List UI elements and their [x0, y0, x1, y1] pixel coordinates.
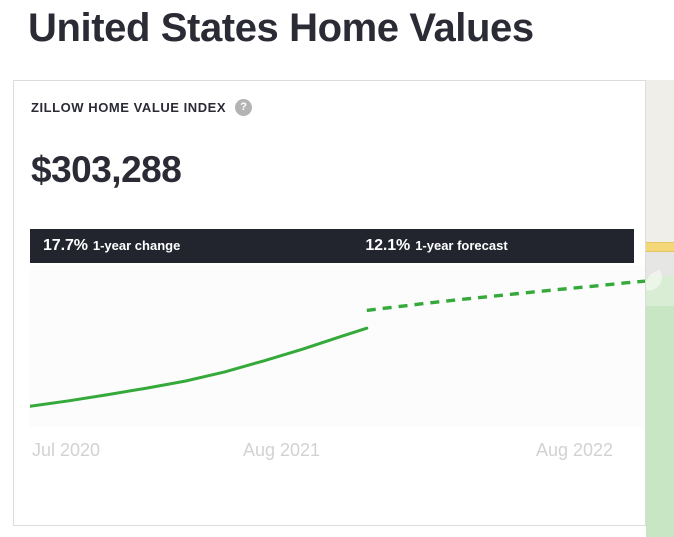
- map-leaf-icon: [646, 266, 668, 300]
- map-backdrop[interactable]: [646, 80, 674, 537]
- stats-bar: 17.7% 1-year change 12.1% 1-year forecas…: [30, 229, 634, 263]
- zhvi-trend-chart[interactable]: [30, 265, 646, 427]
- chart-svg: [30, 265, 646, 427]
- series-forecast-line: [367, 281, 646, 311]
- map-park-area: [646, 276, 674, 537]
- chart-x-axis: Jul 2020 Aug 2021 Aug 2022: [30, 437, 634, 463]
- card-header: ZILLOW HOME VALUE INDEX ?: [31, 99, 252, 116]
- one-year-forecast-label: 1-year forecast: [415, 238, 508, 253]
- zhvi-value: $303,288: [31, 149, 181, 191]
- x-axis-tick-jul-2020: Jul 2020: [32, 437, 100, 463]
- series-historical-line: [30, 328, 367, 406]
- zillow-home-value-index-card: ZILLOW HOME VALUE INDEX ? $303,288 17.7%…: [13, 80, 646, 526]
- one-year-change-percent: 17.7%: [43, 237, 88, 255]
- question-mark-icon[interactable]: ?: [235, 99, 252, 116]
- stat-one-year-change: 17.7% 1-year change: [43, 237, 180, 255]
- stat-one-year-forecast: 12.1% 1-year forecast: [365, 237, 507, 255]
- zhvi-label: ZILLOW HOME VALUE INDEX: [31, 100, 226, 115]
- x-axis-tick-aug-2021: Aug 2021: [243, 437, 320, 463]
- page-title: United States Home Values: [28, 2, 534, 54]
- map-land-area: [646, 80, 674, 248]
- x-axis-tick-aug-2022: Aug 2022: [536, 437, 613, 463]
- map-road: [646, 242, 674, 252]
- one-year-forecast-percent: 12.1%: [365, 237, 410, 255]
- one-year-change-label: 1-year change: [93, 238, 180, 253]
